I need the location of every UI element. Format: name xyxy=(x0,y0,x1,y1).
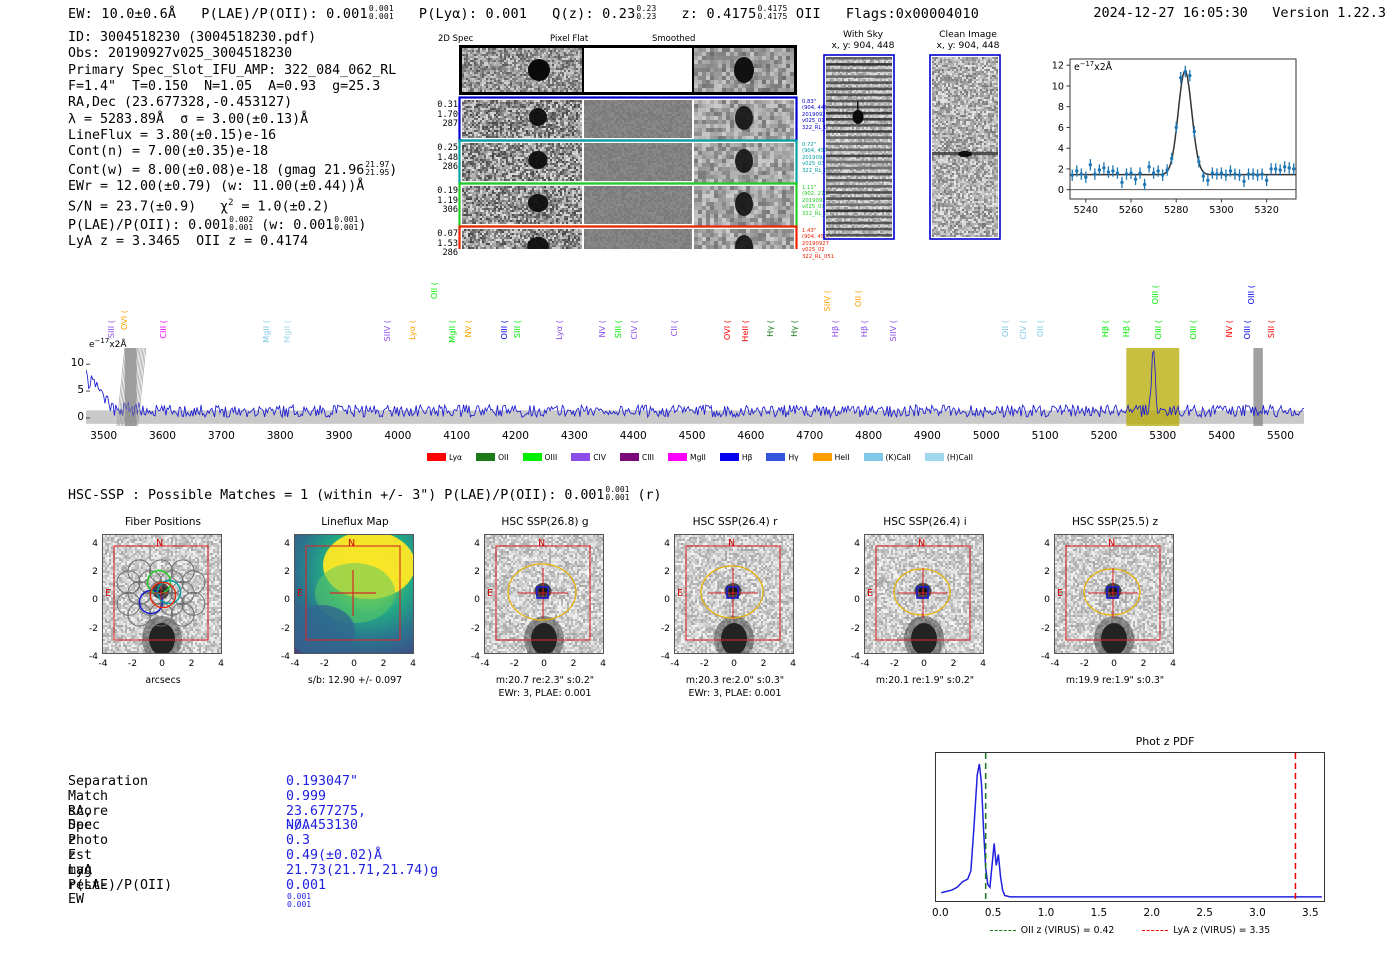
catalog-row-value: 0.0010.0010.001 xyxy=(286,879,326,911)
spec-cutouts-panel: 2D Spec Pixel Flat Smoothed WeightedSum … xyxy=(420,34,810,249)
header-summary-line: EW: 10.0±0.6Å P(LAE)/P(OII): 0.0010.0010… xyxy=(68,5,979,22)
legend-label: Lyα xyxy=(449,453,462,462)
cutout-x-tick: -2 xyxy=(886,658,904,669)
cutout-y-tick: 2 xyxy=(80,566,98,577)
cutout-panel-5: HSC SSP(26.4) iNE420-2-4-4-2024m:20.1 re… xyxy=(820,516,1030,731)
cutout-right-meta: 1.43"(904, 457)20190927v025_02322_RL_051 xyxy=(802,228,834,260)
emission-line-label: OIII ( xyxy=(1150,285,1160,305)
cutout-x-tick: 2 xyxy=(565,658,583,669)
cutout-overlays xyxy=(294,534,414,654)
cutout-x-tick: 4 xyxy=(1164,658,1182,669)
cutout-overlays xyxy=(102,534,222,654)
legend-swatch xyxy=(925,453,944,461)
emission-line-label: NV ( xyxy=(1224,320,1234,338)
header-qz-range: 0.230.23 xyxy=(636,5,656,21)
emission-line-label: OII ( xyxy=(1035,320,1045,337)
cutout-left-stats: 0.071.53286 xyxy=(400,230,458,259)
cutout-x-tick: -2 xyxy=(124,658,142,669)
info-seeing: F=1.4" T=0.150 N=1.05 A=0.93 g=25.3 xyxy=(68,79,397,95)
legend-label: MgII xyxy=(690,453,706,462)
emission-line-label: Lyα ( xyxy=(554,320,564,340)
cutout-left-stats: 0.251.48286 xyxy=(400,144,458,173)
cutout-y-tick: -2 xyxy=(842,623,860,634)
legend-label: (H)CaII xyxy=(947,453,973,462)
emission-line-label: Lyα ( xyxy=(407,320,417,340)
legend-item: Hβ xyxy=(720,452,753,462)
compass-east-label: E xyxy=(1057,588,1063,599)
phot-z-legend-dash xyxy=(990,930,1016,931)
cutout-x-tick: 0 xyxy=(153,658,171,669)
emission-line-label: OII ( xyxy=(429,282,439,299)
cutout-x-tick: 2 xyxy=(375,658,393,669)
emission-line-label: OII ( xyxy=(1000,320,1010,337)
spectrum-x-tick: 4400 xyxy=(611,430,655,442)
cutout-y-tick: -2 xyxy=(462,623,480,634)
cutout-y-tick: 2 xyxy=(652,566,670,577)
info-sn-chi2: S/N = 23.7(±0.9) χ2 = 1.0(±0.2) xyxy=(68,195,397,216)
legend-swatch xyxy=(766,453,785,461)
phot-z-x-tick: 1.0 xyxy=(1026,907,1066,919)
legend-swatch xyxy=(523,453,542,461)
emission-line-label: Hγ ( xyxy=(765,320,775,337)
catalog-row-value: 0.999 xyxy=(286,790,326,805)
header-plae-label: P(LAE)/P(OII): 0.001 xyxy=(201,6,368,22)
cutout-right-meta: 0.83"(904, 448)20190927v025_01322_RL_050 xyxy=(802,99,834,131)
compass-east-label: E xyxy=(487,588,493,599)
spectrum-y-tick: 10 xyxy=(70,357,84,369)
cutout-x-tick: 0 xyxy=(915,658,933,669)
emission-line-label: OVI ( xyxy=(119,310,129,330)
emission-line-label: OIII ( xyxy=(1246,285,1256,305)
compass-north-label: N xyxy=(728,538,735,549)
spectrum-x-tick: 4300 xyxy=(552,430,596,442)
spectrum-x-tick: 4500 xyxy=(670,430,714,442)
cutout-y-tick: -2 xyxy=(80,623,98,634)
legend-item: MgII xyxy=(668,452,706,462)
cutout-x-tick: -2 xyxy=(506,658,524,669)
catalog-row-value: 0.49(±0.02)Å xyxy=(286,849,382,864)
spectrum-legend: LyαOIIOIIICIVCIIIMgIIHβHγHeII(K)CaII(H)C… xyxy=(0,452,1400,462)
cutout-x-tick: -2 xyxy=(696,658,714,669)
cutout-right-meta: 1.11"(902, 273)20190927v025_07322_RL_031 xyxy=(802,185,834,217)
header-flags: Flags:0x00004010 xyxy=(846,6,979,22)
emission-line-label: SIII ( xyxy=(512,320,522,338)
spectrum-x-tick: 4800 xyxy=(847,430,891,442)
cutout-x-tick: 2 xyxy=(1135,658,1153,669)
header-ew: EW: 10.0±0.6Å xyxy=(68,6,176,22)
cutout-panel-6: HSC SSP(25.5) zNE420-2-4-4-2024m:19.9 re… xyxy=(1010,516,1220,731)
cutout-caption: s/b: 12.90 +/- 0.097 xyxy=(250,675,460,688)
cutout-x-tick: 0 xyxy=(1105,658,1123,669)
cutout-x-tick: -4 xyxy=(666,658,684,669)
phot-z-legend: OII z (VIRUS) = 0.42LyA z (VIRUS) = 3.35 xyxy=(930,925,1330,936)
emission-line-label: SIIV ( xyxy=(822,290,832,311)
header-plya: P(Lyα): 0.001 xyxy=(419,6,527,22)
header-z-type: OII xyxy=(796,6,821,22)
legend-item: Hγ xyxy=(766,452,798,462)
full-spectrum-plot: e−17x2Å xyxy=(86,348,1304,426)
cutout-x-tick: 4 xyxy=(974,658,992,669)
emission-line-label: SIIV ( xyxy=(382,320,392,341)
legend-label: CIII xyxy=(642,453,654,462)
spectrum-unit-label: e−17x2Å xyxy=(89,337,127,350)
emission-line-label: Hγ ( xyxy=(789,320,799,337)
legend-item: OII xyxy=(476,452,508,462)
compass-north-label: N xyxy=(538,538,545,549)
spectrum-x-tick: 3900 xyxy=(317,430,361,442)
cutout-panel-title: HSC SSP(25.5) z xyxy=(1010,516,1220,528)
emission-line-label: Hβ ( xyxy=(830,320,840,337)
cutout-y-tick: 4 xyxy=(652,538,670,549)
cutout-x-tick: 4 xyxy=(404,658,422,669)
emission-line-label: SIII ( xyxy=(106,320,116,338)
info-lineflux: LineFlux = 3.80(±0.15)e-16 xyxy=(68,128,397,144)
cutout-panel-title: HSC SSP(26.4) r xyxy=(630,516,840,528)
info-plae: P(LAE)/P(OII): 0.0010.0020.001 (w: 0.001… xyxy=(68,216,397,234)
emission-line-label: MgII ( xyxy=(447,320,457,343)
cutout-caption: arcsecs xyxy=(58,675,268,688)
spectrum-x-tick: 5500 xyxy=(1258,430,1302,442)
info-obs: Obs: 20190927v025_3004518230 xyxy=(68,46,397,62)
cutout-y-tick: 4 xyxy=(462,538,480,549)
cutout-x-tick: 0 xyxy=(535,658,553,669)
emission-line-label: SIIV ( xyxy=(888,320,898,341)
phot-z-x-tick: 1.5 xyxy=(1079,907,1119,919)
phot-z-x-tick: 0.0 xyxy=(920,907,960,919)
legend-label: HeII xyxy=(835,453,850,462)
cutout-y-tick: 2 xyxy=(842,566,860,577)
legend-label: Hβ xyxy=(742,453,753,462)
phot-z-legend-dash xyxy=(1142,930,1168,931)
cutout-panel-title: HSC SSP(26.8) g xyxy=(440,516,650,528)
cutout-y-tick: 0 xyxy=(842,594,860,605)
spectrum-x-tick: 4200 xyxy=(494,430,538,442)
catalog-row-value: 0.193047" xyxy=(286,775,358,790)
cutout-right-meta: 0.72"(904, 457)20190927v025_03322_RL_051 xyxy=(802,142,834,174)
cutout-overlays xyxy=(674,534,794,654)
cutout-panel-title: Fiber Positions xyxy=(58,516,268,528)
compass-east-label: E xyxy=(677,588,683,599)
cutout-left-stats: 0.191.19306 xyxy=(400,187,458,216)
header-version: Version 1.22.3 xyxy=(1272,5,1386,21)
cutout-caption: m:20.7 re:2.3" s:0.2" xyxy=(440,675,650,688)
emission-line-label: OVI ( xyxy=(722,320,732,340)
cutout-caption: m:20.3 re:2.0" s:0.3" xyxy=(630,675,840,688)
cutout-caption: EWr: 3, PLAE: 0.001 xyxy=(440,688,650,701)
legend-label: CIV xyxy=(593,453,606,462)
emission-line-label: OIII ( xyxy=(1242,320,1252,340)
cutout-x-tick: -2 xyxy=(316,658,334,669)
cutout-x-tick: 4 xyxy=(212,658,230,669)
phot-z-x-tick: 2.5 xyxy=(1185,907,1225,919)
catalog-row-key: Separation xyxy=(68,775,148,790)
phot-z-legend-label: OII z (VIRUS) = 0.42 xyxy=(1021,925,1115,936)
hsc-header-text: HSC-SSP : Possible Matches = 1 (within +… xyxy=(68,488,604,503)
catalog-row-value: 0.3 xyxy=(286,834,310,849)
cutout-y-tick: 2 xyxy=(1032,566,1050,577)
catalog-row-key: P(LAE)/P(OII) xyxy=(68,879,172,894)
cutout-panel-4: HSC SSP(26.4) rNE420-2-4-4-2024m:20.3 re… xyxy=(630,516,840,731)
header-z-label: z: 0.4175 xyxy=(681,6,756,22)
cutout-y-tick: 4 xyxy=(272,538,290,549)
catalog-row-key: mag xyxy=(68,864,92,879)
cutout-x-tick: 2 xyxy=(945,658,963,669)
compass-north-label: N xyxy=(1108,538,1115,549)
emission-line-label: CIV ( xyxy=(1018,320,1028,340)
cutout-images xyxy=(420,34,810,249)
phot-z-title: Phot z PDF xyxy=(930,735,1400,748)
info-ewr: EWr = 12.00(±0.79) (w: 11.00(±0.44))Å xyxy=(68,179,397,195)
compass-east-label: E xyxy=(297,588,303,599)
phot-z-pdf-panel: Phot z PDF 0.00.51.01.52.02.53.03.5 OII … xyxy=(930,735,1400,945)
emission-line-label: SIII ( xyxy=(1266,320,1276,338)
cutout-y-tick: -2 xyxy=(652,623,670,634)
phot-z-plot-area xyxy=(935,752,1325,902)
emission-line-label: OIII ( xyxy=(499,320,509,340)
phot-z-x-tick: 3.5 xyxy=(1290,907,1330,919)
emission-line-label: CIV ( xyxy=(629,320,639,340)
header-z-range: 0.41750.4175 xyxy=(757,5,787,21)
cutout-overlays xyxy=(1054,534,1174,654)
cutout-x-tick: -4 xyxy=(856,658,874,669)
phot-z-x-tick: 3.0 xyxy=(1237,907,1277,919)
cutout-panel-title: HSC SSP(26.4) i xyxy=(820,516,1030,528)
legend-item: Lyα xyxy=(427,452,462,462)
info-wavelength: λ = 5283.89Å σ = 3.00(±0.13)Å xyxy=(68,112,397,128)
catalog-row-value: 21.73(21.71,21.74)g xyxy=(286,864,438,879)
compass-north-label: N xyxy=(348,538,355,549)
info-cont-wide: Cont(w) = 8.00(±0.08)e-18 (gmag 21.9621.… xyxy=(68,161,397,179)
legend-swatch xyxy=(620,453,639,461)
emission-line-label: MgII ( xyxy=(282,320,292,343)
legend-label: (K)CaII xyxy=(886,453,911,462)
cutout-y-tick: -2 xyxy=(1032,623,1050,634)
emission-line-fit-plot: 02468101252405260528053005320e−17x2Å xyxy=(1036,57,1306,222)
emission-line-label: SIII ( xyxy=(613,320,623,338)
cutout-y-tick: -2 xyxy=(272,623,290,634)
cutout-overlays xyxy=(864,534,984,654)
compass-north-label: N xyxy=(918,538,925,549)
cutout-caption: m:20.1 re:1.9" s:0.2" xyxy=(820,675,1030,688)
cutout-x-tick: -4 xyxy=(1046,658,1064,669)
thumb-title-clean-image: Clean Imagex, y: 904, 448 xyxy=(918,30,1018,51)
phot-z-x-tick: 2.0 xyxy=(1132,907,1172,919)
thumb-title-with-sky: With Skyx, y: 904, 448 xyxy=(818,30,908,51)
hsc-ssp-header: HSC-SSP : Possible Matches = 1 (within +… xyxy=(68,486,662,503)
catalog-row-value: N/A xyxy=(286,819,310,834)
cutout-x-tick: -4 xyxy=(286,658,304,669)
cutout-x-tick: 4 xyxy=(784,658,802,669)
spectrum-x-tick: 4000 xyxy=(376,430,420,442)
legend-swatch xyxy=(571,453,590,461)
emission-line-label: HeII ( xyxy=(740,320,750,342)
cutout-caption: EWr: 3, PLAE: 0.001 xyxy=(630,688,840,701)
emission-line-label: MgII ( xyxy=(261,320,271,343)
spectrum-x-tick: 5000 xyxy=(964,430,1008,442)
emission-line-label: OIII ( xyxy=(1188,320,1198,340)
spectrum-x-tick: 5100 xyxy=(1023,430,1067,442)
phot-z-legend-item: LyA z (VIRUS) = 3.35 xyxy=(1142,925,1270,936)
legend-swatch xyxy=(864,453,883,461)
cutout-x-tick: 0 xyxy=(345,658,363,669)
cutout-y-tick: 0 xyxy=(652,594,670,605)
detection-info-block: ID: 3004518230 (3004518230.pdf) Obs: 201… xyxy=(68,30,397,251)
emission-line-label: CII ( xyxy=(669,320,679,336)
emission-line-label: Hβ ( xyxy=(1121,320,1131,337)
emission-line-label: CIII ( xyxy=(158,320,168,339)
compass-east-label: E xyxy=(867,588,873,599)
compass-north-label: N xyxy=(156,538,163,549)
legend-swatch xyxy=(668,453,687,461)
spectrum-y-tick: 5 xyxy=(70,384,84,396)
cutout-x-tick: 4 xyxy=(594,658,612,669)
header-datetime: 2024-12-27 16:05:30 xyxy=(1093,5,1247,21)
compass-east-label: E xyxy=(105,588,111,599)
cutout-panel-title: Lineflux Map xyxy=(250,516,460,528)
legend-item: HeII xyxy=(813,452,850,462)
cutout-left-stats: 0.311.70287 xyxy=(400,101,458,130)
cutout-x-tick: -4 xyxy=(476,658,494,669)
legend-label: OII xyxy=(498,453,508,462)
legend-swatch xyxy=(476,453,495,461)
legend-item: (K)CaII xyxy=(864,452,911,462)
spectrum-x-tick: 4900 xyxy=(905,430,949,442)
cutout-y-tick: 4 xyxy=(842,538,860,549)
emission-line-label: Hβ ( xyxy=(1100,320,1110,337)
info-redshifts: LyA z = 3.3465 OII z = 0.4174 xyxy=(68,234,397,250)
cutout-y-tick: 0 xyxy=(462,594,480,605)
spectrum-x-tick: 5200 xyxy=(1082,430,1126,442)
cutout-panel-1: Fiber PositionsNE420-2-4-4-2024arcsecs xyxy=(58,516,268,731)
legend-label: OIII xyxy=(545,453,558,462)
info-id: ID: 3004518230 (3004518230.pdf) xyxy=(68,30,397,46)
phot-z-legend-item: OII z (VIRUS) = 0.42 xyxy=(990,925,1115,936)
legend-item: OIII xyxy=(523,452,558,462)
cutout-y-tick: 4 xyxy=(80,538,98,549)
spectrum-y-tick: 0 xyxy=(70,411,84,423)
info-radec: RA,Dec (23.677328,-0.453127) xyxy=(68,95,397,111)
cutout-y-tick: 0 xyxy=(1032,594,1050,605)
legend-swatch xyxy=(427,453,446,461)
legend-item: (H)CaII xyxy=(925,452,973,462)
emission-line-label: NV ( xyxy=(463,320,473,338)
emission-line-label: OIII ( xyxy=(1153,320,1163,340)
phot-z-x-tick: 0.5 xyxy=(973,907,1013,919)
header-plae-range: 0.0010.001 xyxy=(369,5,394,21)
cutout-x-tick: 0 xyxy=(725,658,743,669)
cutout-y-tick: 0 xyxy=(272,594,290,605)
spectrum-x-tick: 4600 xyxy=(729,430,773,442)
spectrum-x-tick: 3600 xyxy=(140,430,184,442)
cutout-panel-3: HSC SSP(26.8) gNE420-2-4-4-2024m:20.7 re… xyxy=(440,516,650,731)
emission-line-label: OII ( xyxy=(853,290,863,307)
legend-item: CIII xyxy=(620,452,654,462)
legend-swatch xyxy=(720,453,739,461)
legend-label: Hγ xyxy=(788,453,798,462)
cutout-y-tick: 4 xyxy=(1032,538,1050,549)
header-qz-label: Q(z): 0.23 xyxy=(552,6,635,22)
emission-line-label: NV ( xyxy=(597,320,607,338)
phot-z-legend-label: LyA z (VIRUS) = 3.35 xyxy=(1173,925,1270,936)
emission-line-label: Hβ ( xyxy=(859,320,869,337)
spectrum-x-tick: 5300 xyxy=(1141,430,1185,442)
cutout-x-tick: 2 xyxy=(183,658,201,669)
header-timestamp-version: 2024-12-27 16:05:30 Version 1.22.3 xyxy=(1093,5,1386,21)
spectrum-x-tick: 4100 xyxy=(435,430,479,442)
cutout-caption: m:19.9 re:1.9" s:0.3" xyxy=(1010,675,1220,688)
info-cont-narrow: Cont(n) = 7.00(±0.35)e-18 xyxy=(68,144,397,160)
cutout-y-tick: 2 xyxy=(462,566,480,577)
info-primary-spec: Primary Spec_Slot_IFU_AMP: 322_084_062_R… xyxy=(68,63,397,79)
legend-swatch xyxy=(813,453,832,461)
cutout-panel-2: Lineflux MapNE420-2-4-4-2024s/b: 12.90 +… xyxy=(250,516,460,731)
spectrum-x-tick: 3800 xyxy=(258,430,302,442)
cutout-y-tick: 0 xyxy=(80,594,98,605)
cutout-x-tick: -4 xyxy=(94,658,112,669)
cutout-x-tick: -2 xyxy=(1076,658,1094,669)
legend-item: CIV xyxy=(571,452,606,462)
cutout-x-tick: 2 xyxy=(755,658,773,669)
cutout-y-tick: 2 xyxy=(272,566,290,577)
spectrum-x-tick: 3700 xyxy=(199,430,243,442)
spectrum-x-tick: 4700 xyxy=(788,430,832,442)
cutout-overlays xyxy=(484,534,604,654)
spectrum-x-tick: 3500 xyxy=(82,430,126,442)
spectrum-x-tick: 5400 xyxy=(1200,430,1244,442)
